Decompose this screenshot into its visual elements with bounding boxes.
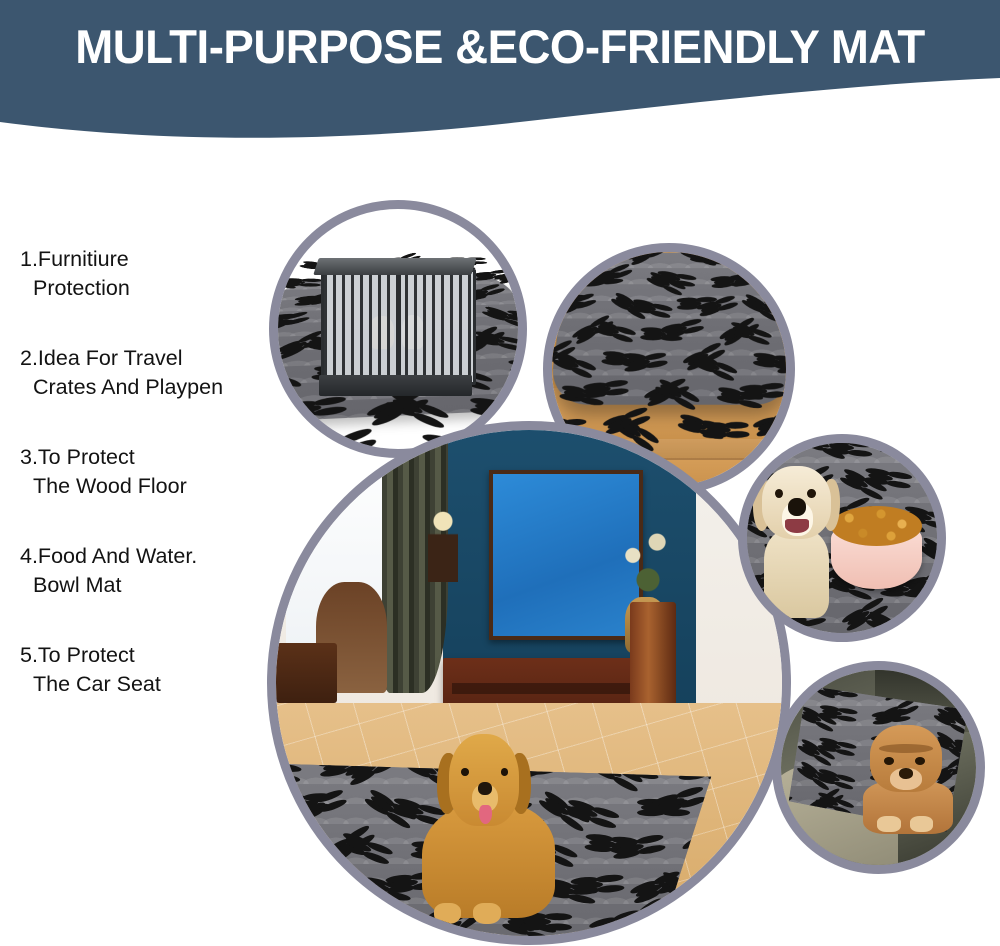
golden-retriever	[413, 734, 565, 926]
bone-motif	[276, 838, 285, 852]
bone-motif	[713, 278, 734, 284]
puppy-nose	[899, 768, 913, 779]
bone-motif	[782, 616, 808, 628]
bone-motif	[502, 258, 518, 264]
bone-motif	[829, 443, 854, 451]
bone-motif	[278, 410, 288, 421]
bone-motif	[627, 359, 650, 369]
bone-motif	[870, 615, 895, 631]
puppy-eye	[915, 757, 925, 765]
dog-nose	[788, 498, 806, 516]
bone-motif	[822, 709, 843, 717]
bone-motif	[882, 443, 908, 449]
bone-motif	[615, 843, 644, 855]
bone-motif	[279, 340, 308, 356]
bone-motif	[303, 873, 331, 892]
bone-motif	[805, 443, 830, 450]
bone-motif	[745, 252, 766, 258]
bone-motif	[587, 385, 611, 394]
dog-paw	[434, 903, 461, 924]
bone-motif	[563, 389, 587, 399]
bone-motif	[575, 881, 603, 891]
bone-motif	[752, 443, 777, 455]
bone-motif	[868, 472, 893, 482]
bone-motif	[908, 579, 934, 592]
bone-motif	[665, 325, 688, 335]
photo-dog-on-mat-living-room	[276, 430, 782, 936]
bone-motif	[800, 765, 820, 781]
bone-motif	[802, 710, 822, 723]
dog-chest	[764, 530, 830, 618]
bone-motif	[611, 252, 632, 256]
bone-motif	[282, 280, 305, 284]
bone-motif	[349, 925, 377, 933]
bordeaux-puppy	[863, 725, 953, 834]
bone-motif	[745, 297, 766, 311]
dog-tongue	[479, 805, 491, 824]
puppy-paw	[877, 816, 900, 831]
table-lamp	[428, 501, 458, 582]
bone-motif	[720, 391, 744, 402]
bone-motif	[635, 882, 664, 899]
bone-motif	[932, 477, 937, 487]
bone-motif	[497, 273, 517, 282]
bone-motif	[369, 794, 396, 815]
bone-motif	[734, 273, 755, 284]
side-table	[276, 643, 337, 704]
bone-motif	[504, 397, 518, 408]
puppy-paw	[910, 816, 933, 831]
crate-roof	[314, 258, 478, 275]
bone-motif	[510, 313, 518, 321]
photo-collage	[0, 140, 1000, 946]
bone-motif	[643, 331, 665, 337]
dog-eye	[461, 768, 469, 776]
crate-base-tray	[319, 375, 473, 397]
bone-motif	[844, 473, 869, 490]
bone-motif	[287, 404, 321, 416]
product-infographic: MULTI-PURPOSE &ECO-FRIENDLY MAT 1.Furnit…	[0, 0, 1000, 946]
dog-eye	[775, 489, 783, 498]
bone-motif	[884, 707, 904, 720]
bone-motif	[597, 324, 619, 335]
bone-motif	[820, 773, 841, 784]
photo-puppy-on-car-seat	[781, 670, 976, 865]
cream-golden-retriever	[751, 466, 842, 618]
bone-motif	[906, 443, 931, 457]
bone-motif	[278, 318, 290, 329]
dog-paw	[473, 903, 500, 924]
dog-eye	[807, 489, 815, 498]
bone-motif	[575, 325, 597, 340]
bone-motif	[656, 796, 685, 811]
dog-eye	[501, 768, 509, 776]
bone-pattern	[552, 253, 786, 406]
bone-motif	[557, 356, 580, 369]
bone-motif	[743, 388, 767, 396]
bone-motif	[801, 742, 821, 757]
bone-motif	[756, 356, 779, 364]
bone-motif	[747, 444, 753, 456]
bone-motif	[693, 254, 713, 260]
bone-motif	[821, 741, 842, 751]
photo-dog-crate-on-mat	[278, 209, 518, 449]
bone-motif	[569, 804, 598, 819]
collage-circle-crate	[269, 200, 527, 458]
bone-motif	[589, 839, 617, 849]
dog-crate	[321, 269, 476, 385]
bone-motif	[276, 877, 304, 896]
kibble	[831, 506, 922, 546]
bone-motif	[614, 295, 635, 309]
bone-motif	[485, 309, 511, 321]
bone-motif	[276, 917, 278, 936]
bone-motif	[475, 273, 497, 279]
collage-circle-living-room	[267, 421, 791, 945]
dog-nose	[478, 782, 492, 795]
bone-motif	[569, 253, 590, 259]
puppy-brow-wrinkle	[879, 744, 933, 753]
collage-circle-food-bowl	[738, 434, 946, 642]
bone-motif	[922, 541, 937, 560]
bone-motif	[923, 615, 937, 624]
bone-motif	[779, 361, 786, 370]
bone-motif	[604, 355, 627, 363]
pet-mat	[552, 253, 786, 406]
page-title: MULTI-PURPOSE &ECO-FRIENDLY MAT	[15, 22, 985, 71]
bone-motif	[278, 372, 280, 386]
bone-motif	[621, 912, 648, 933]
bone-motif	[679, 300, 700, 305]
bone-motif	[363, 881, 392, 893]
collage-circle-car-seat	[772, 661, 985, 874]
bone-motif	[516, 291, 518, 300]
crate-divider	[396, 272, 401, 382]
photo-dog-with-food-bowl	[747, 443, 937, 633]
bone-motif	[596, 271, 617, 282]
bone-motif	[475, 402, 509, 413]
bone-motif	[512, 363, 518, 371]
bone-motif	[322, 917, 351, 932]
bone-motif	[697, 357, 720, 371]
bone-motif	[631, 252, 651, 262]
bone-motif	[634, 302, 656, 312]
header-banner: MULTI-PURPOSE &ECO-FRIENDLY MAT	[0, 0, 1000, 140]
bone-motif	[846, 609, 871, 627]
header-wave-divider	[0, 70, 1000, 140]
bone-motif	[594, 920, 623, 935]
bone-motif	[700, 302, 722, 313]
dog-mouth	[785, 519, 809, 533]
